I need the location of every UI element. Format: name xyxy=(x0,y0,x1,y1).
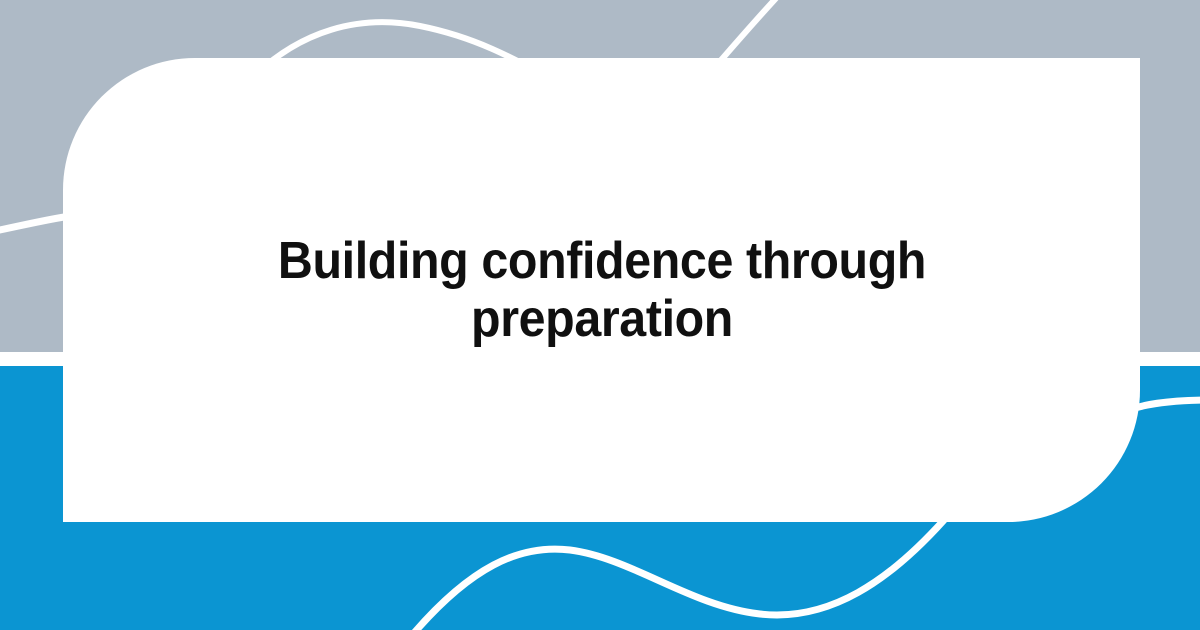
content-card: Building confidence through preparation xyxy=(63,58,1140,522)
page-title: Building confidence through preparation xyxy=(276,232,927,348)
social-card-canvas: Building confidence through preparation xyxy=(0,0,1200,630)
